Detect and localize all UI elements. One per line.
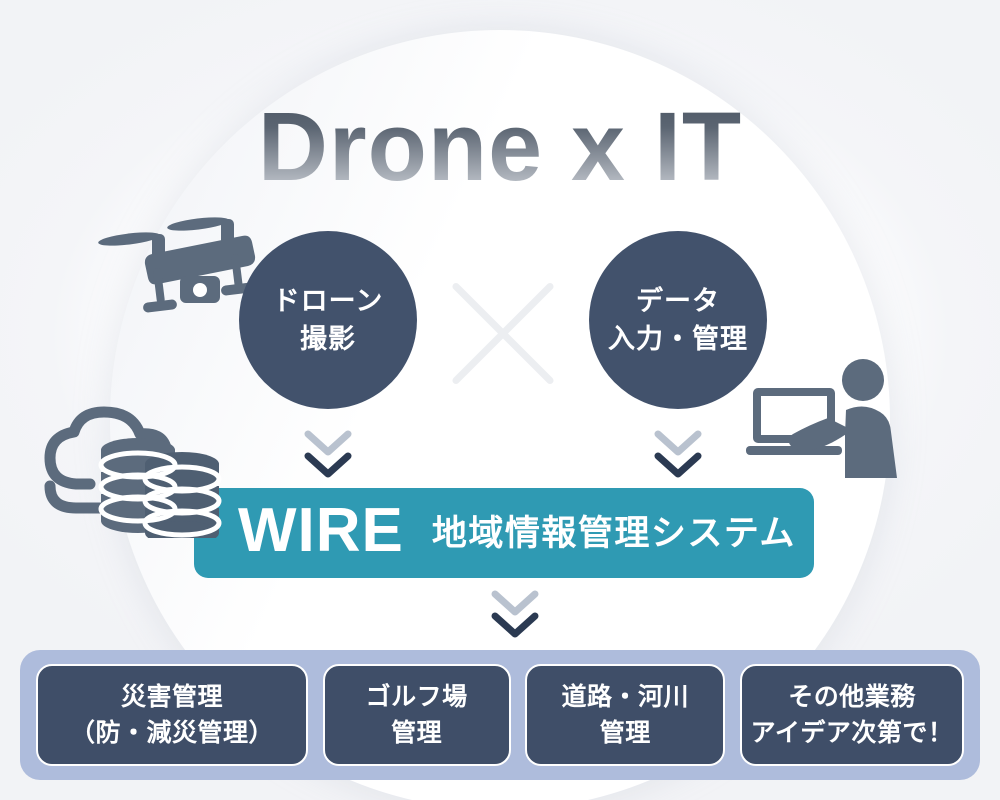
- application-box-golf-course-management[interactable]: ゴルフ場 管理: [323, 664, 511, 766]
- node-data-entry-management[interactable]: データ 入力・管理: [589, 231, 767, 409]
- application-box-other-business[interactable]: その他業務 アイデア次第で！: [740, 664, 964, 766]
- node-label-line-2: 撮影: [300, 320, 356, 358]
- wire-subtitle-label: 地域情報管理システム: [432, 516, 796, 551]
- application-label-line-1: ゴルフ場: [366, 679, 468, 715]
- application-box-road-river-management[interactable]: 道路・河川 管理: [525, 664, 725, 766]
- applications-panel: 災害管理 （防・減災管理） ゴルフ場 管理 道路・河川 管理 その他業務 アイデ…: [20, 650, 980, 780]
- person-at-computer-icon: [734, 358, 909, 493]
- application-label-line-2: 管理: [391, 715, 442, 751]
- diagram-canvas: Drone x IT ドローン 撮影: [0, 0, 1000, 800]
- double-chevron-down-icon: [650, 428, 706, 482]
- application-label-line-2: 管理: [600, 715, 651, 751]
- node-label-line-1: ドローン: [273, 282, 384, 320]
- application-label-line-1: 道路・河川: [562, 679, 690, 715]
- application-label-line-1: その他業務: [788, 679, 916, 715]
- node-label-line-2: 入力・管理: [608, 320, 748, 358]
- node-label-line-1: データ: [636, 282, 720, 320]
- cross-connector-icon: [437, 268, 567, 398]
- application-label-line-2: アイデア次第で！: [751, 715, 954, 751]
- wire-system-banner[interactable]: WIRE 地域情報管理システム: [194, 488, 814, 578]
- double-chevron-down-icon: [487, 588, 543, 642]
- page-title: Drone x IT: [0, 98, 1000, 195]
- node-drone-capture[interactable]: ドローン 撮影: [239, 231, 417, 409]
- application-box-disaster-management[interactable]: 災害管理 （防・減災管理）: [36, 664, 308, 766]
- application-label-line-1: 災害管理: [121, 679, 223, 715]
- cloud-database-icon: [34, 398, 224, 538]
- wire-brand-label: WIRE: [238, 500, 404, 566]
- application-label-line-2: （防・減災管理）: [70, 715, 274, 751]
- double-chevron-down-icon: [300, 428, 356, 482]
